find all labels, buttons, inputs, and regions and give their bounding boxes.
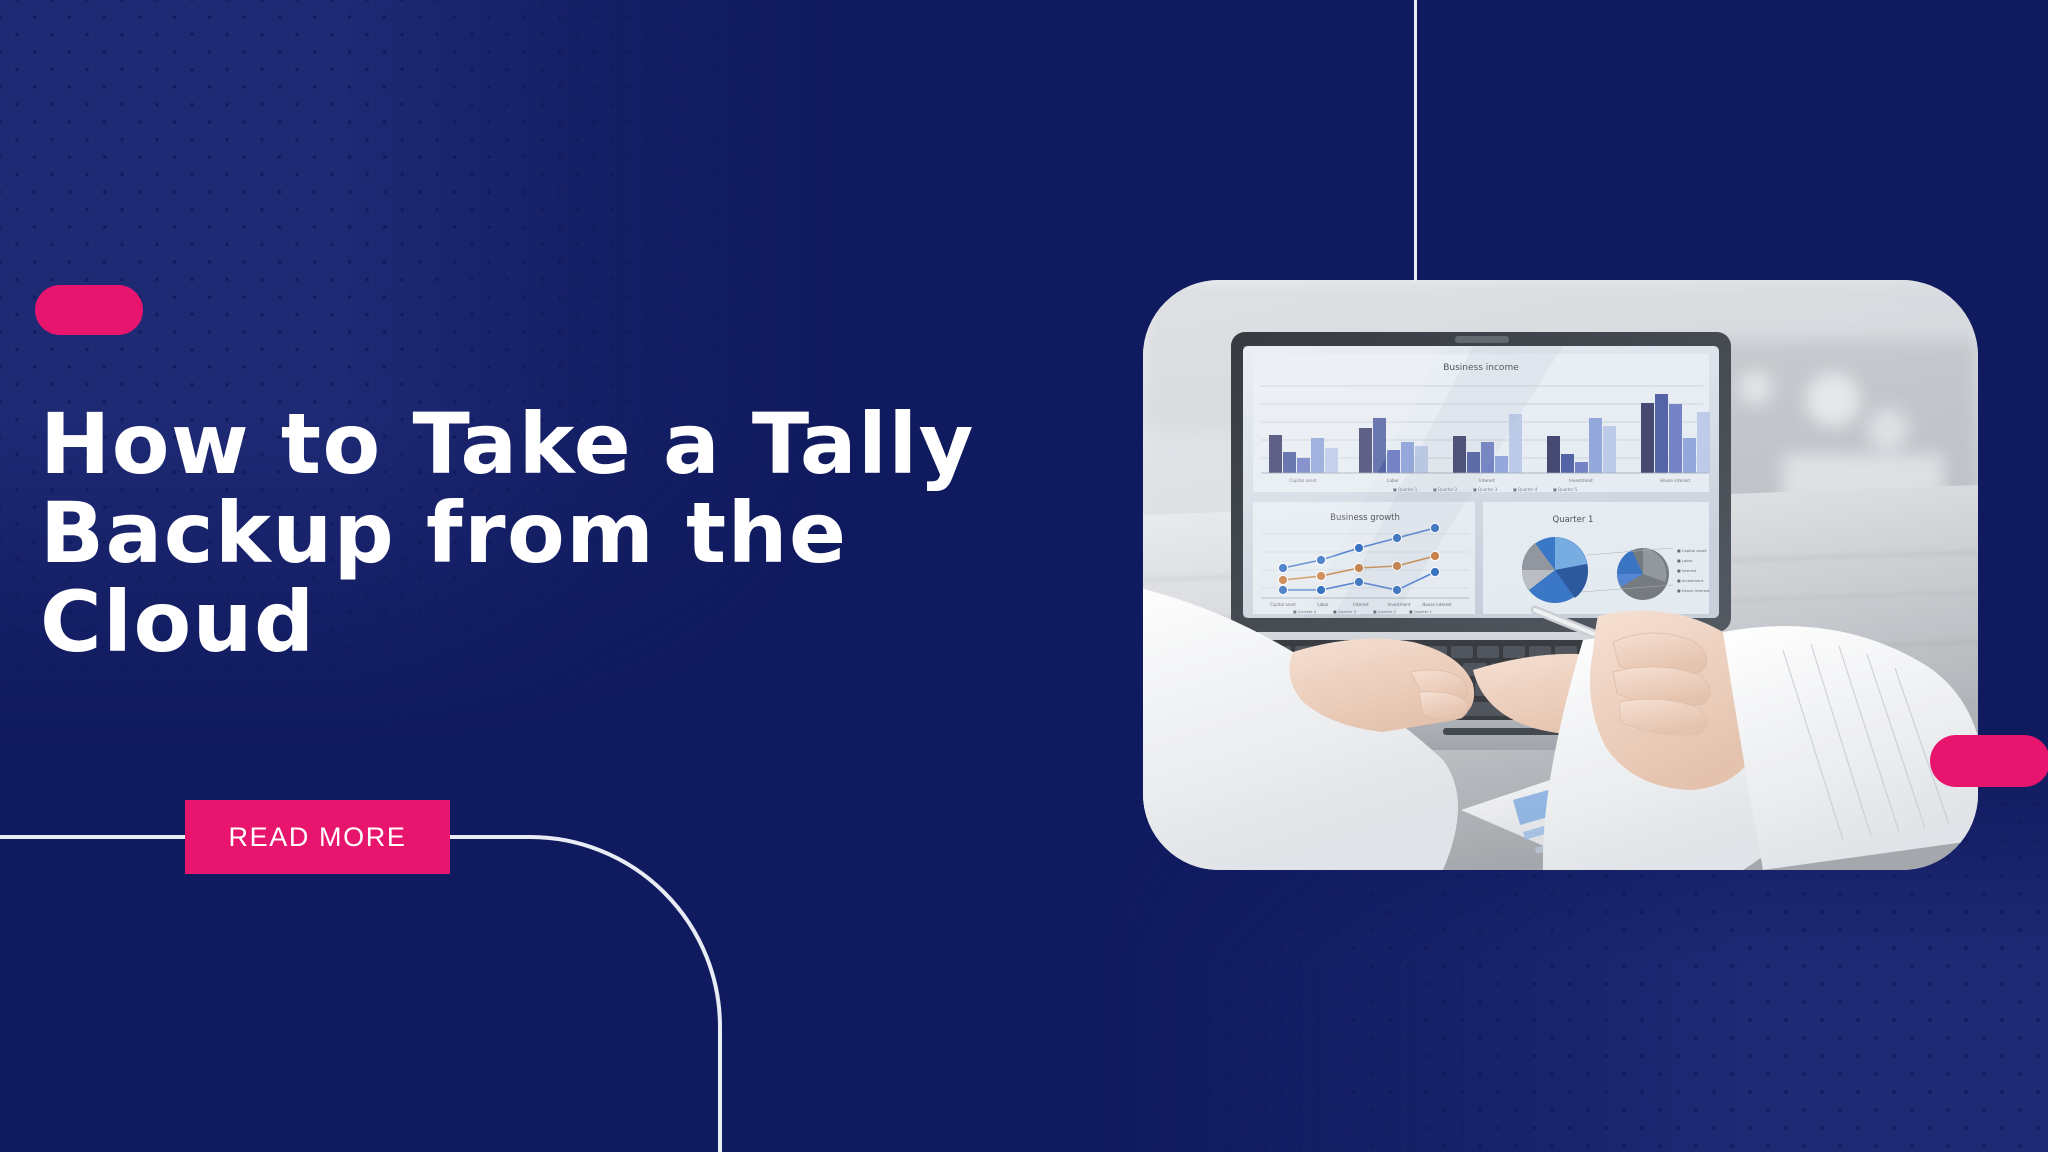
promo-banner: 123 69 Business income: [0, 0, 2048, 1152]
hero-photo-illustration: 123 69 Business income: [1143, 280, 1978, 870]
read-more-button[interactable]: READ MORE: [185, 800, 450, 874]
vertical-divider-line: [1414, 0, 1417, 282]
page-title: How to Take a Tally Backup from the Clou…: [40, 400, 1100, 667]
pink-pill-accent-top: [35, 285, 143, 335]
pink-pill-accent-right: [1930, 735, 2048, 787]
hero-photo: 123 69 Business income: [1143, 280, 1978, 870]
